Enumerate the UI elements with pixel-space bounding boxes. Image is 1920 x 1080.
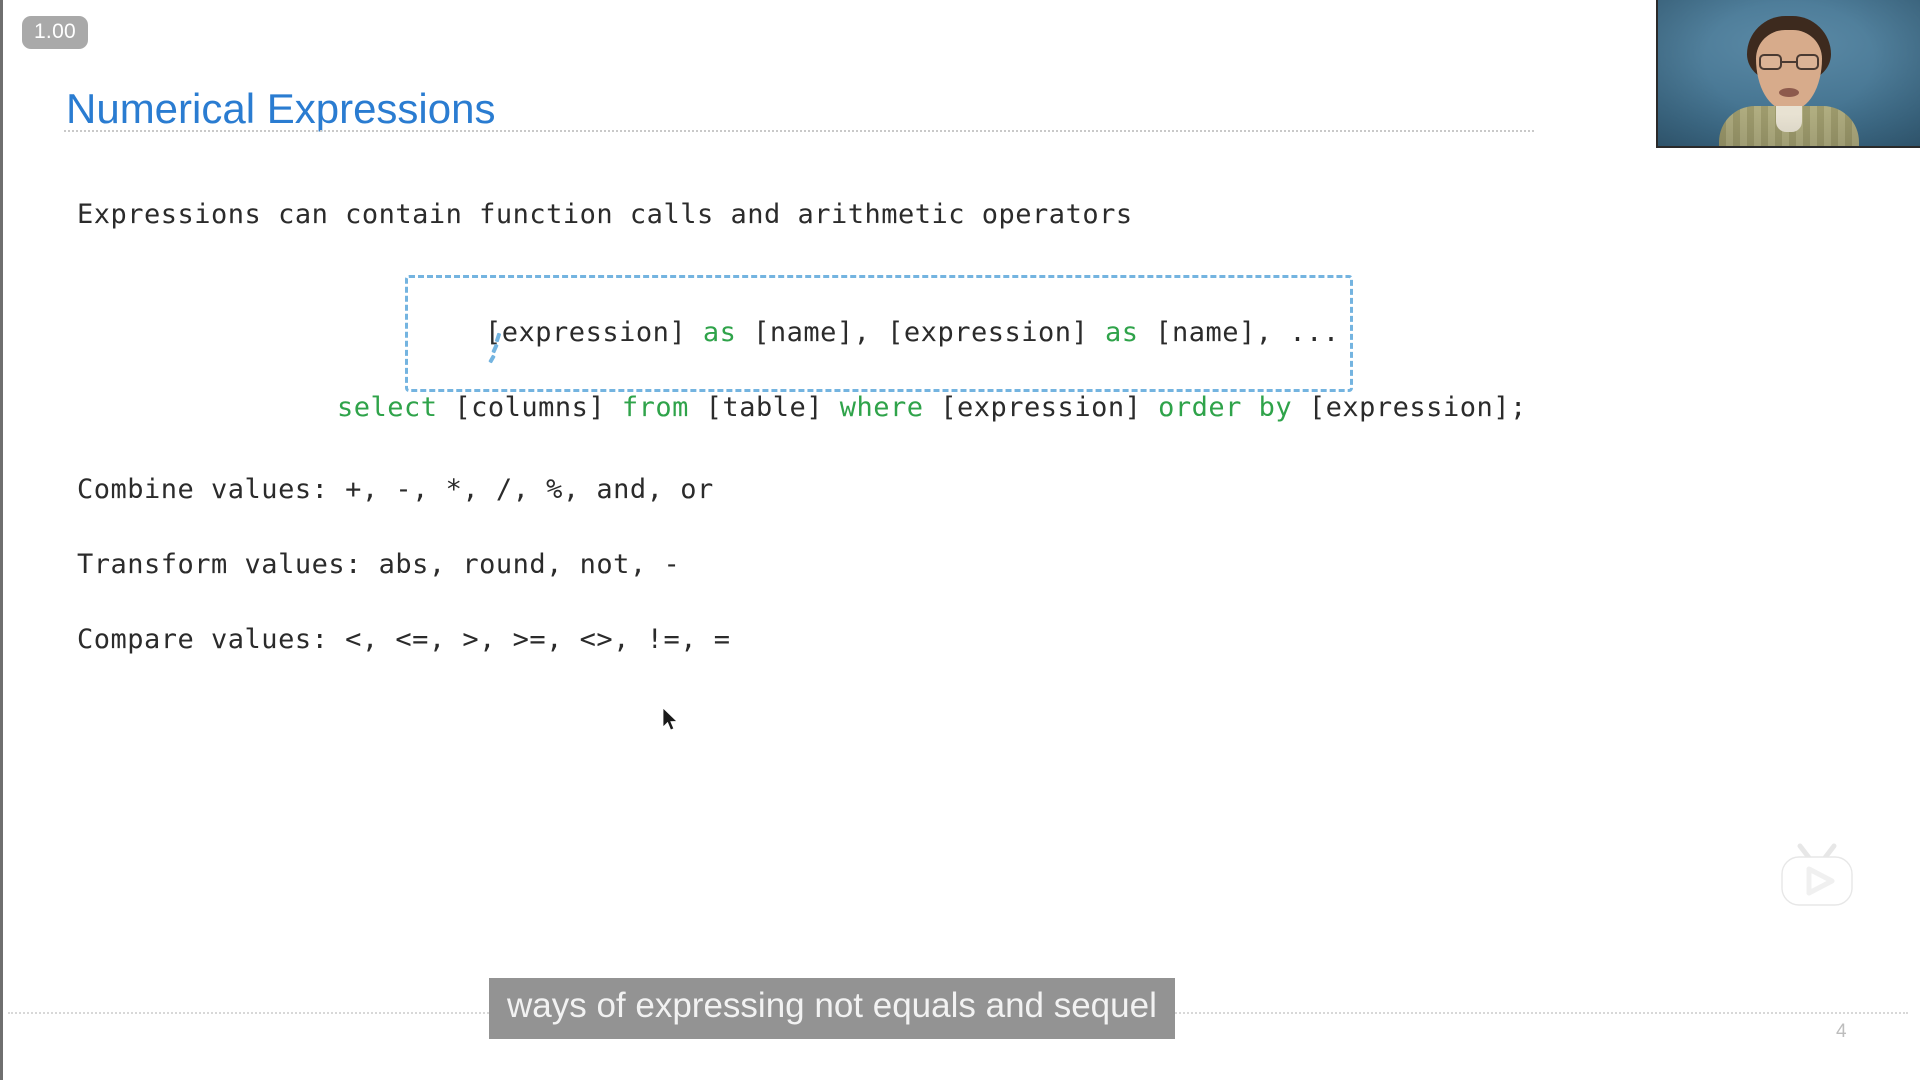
sql-statement-text: select [columns] from [table] where [exp… [337, 392, 1527, 423]
arrow-cursor-icon [662, 707, 680, 733]
page-number: 4 [1836, 1021, 1847, 1043]
slide-title: Numerical Expressions [66, 85, 495, 133]
playback-speed-badge[interactable]: 1.00 [22, 16, 88, 49]
transform-values-line: Transform values: abs, round, not, - [77, 549, 680, 580]
sql-statement-line: select [columns] from [table] where [exp… [270, 361, 1527, 454]
combine-values-line: Combine values: +, -, *, /, %, and, or [77, 474, 714, 505]
template-box-text: [expression] as [name], [expression] as … [485, 317, 1340, 348]
pointer-dash-2 [491, 344, 498, 354]
intro-text: Expressions can contain function calls a… [77, 199, 1133, 230]
subtitle-caption: ways of expressing not equals and sequel [489, 978, 1175, 1039]
pointer-dash-1 [495, 333, 502, 343]
compare-values-line: Compare values: <, <=, >, >=, <>, !=, = [77, 624, 730, 655]
title-divider [64, 130, 1534, 132]
slide-left-border [0, 0, 3, 1080]
slide-canvas: 1.00 Numerical Expressions Expressions c… [0, 0, 1920, 1080]
lecturer-webcam-video[interactable] [1656, 0, 1920, 148]
webcam-vignette [1658, 0, 1920, 146]
tv-play-icon [1776, 843, 1858, 909]
